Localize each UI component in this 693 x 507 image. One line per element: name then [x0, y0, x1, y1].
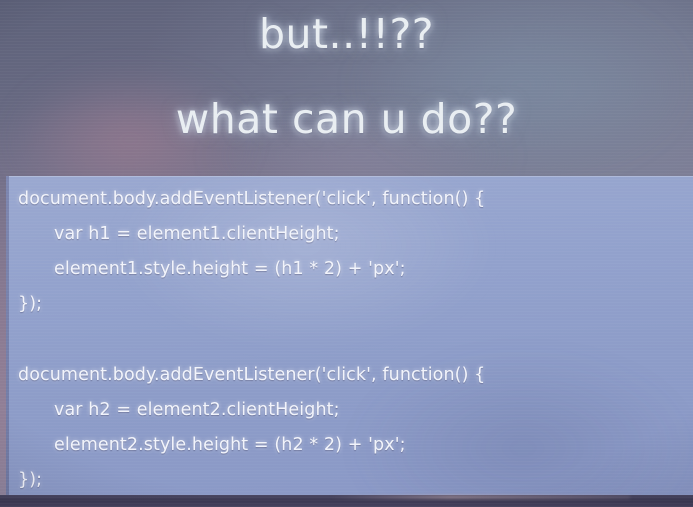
- slide-photo: but..!!?? what can u do?? document.body.…: [0, 0, 693, 507]
- bottom-band-glint: [330, 495, 630, 499]
- code-block-element1: document.body.addEventListener('click', …: [6, 182, 693, 322]
- code-line: element2.style.height = (h2 * 2) + 'px';: [6, 428, 693, 463]
- code-line: element1.style.height = (h1 * 2) + 'px';: [6, 252, 693, 287]
- bottom-dark-band: [0, 495, 693, 507]
- headline-line-1: but..!!??: [0, 14, 693, 55]
- slide-headline: but..!!?? what can u do??: [0, 14, 693, 140]
- code-line: document.body.addEventListener('click', …: [6, 358, 693, 393]
- code-line: document.body.addEventListener('click', …: [6, 182, 693, 217]
- code-line: });: [6, 463, 693, 498]
- code-line: var h2 = element2.clientHeight;: [6, 393, 693, 428]
- code-panel: document.body.addEventListener('click', …: [6, 176, 693, 498]
- code-line: });: [6, 287, 693, 322]
- code-line: var h1 = element1.clientHeight;: [6, 217, 693, 252]
- code-block-element2: document.body.addEventListener('click', …: [6, 358, 693, 498]
- headline-line-2: what can u do??: [0, 99, 693, 140]
